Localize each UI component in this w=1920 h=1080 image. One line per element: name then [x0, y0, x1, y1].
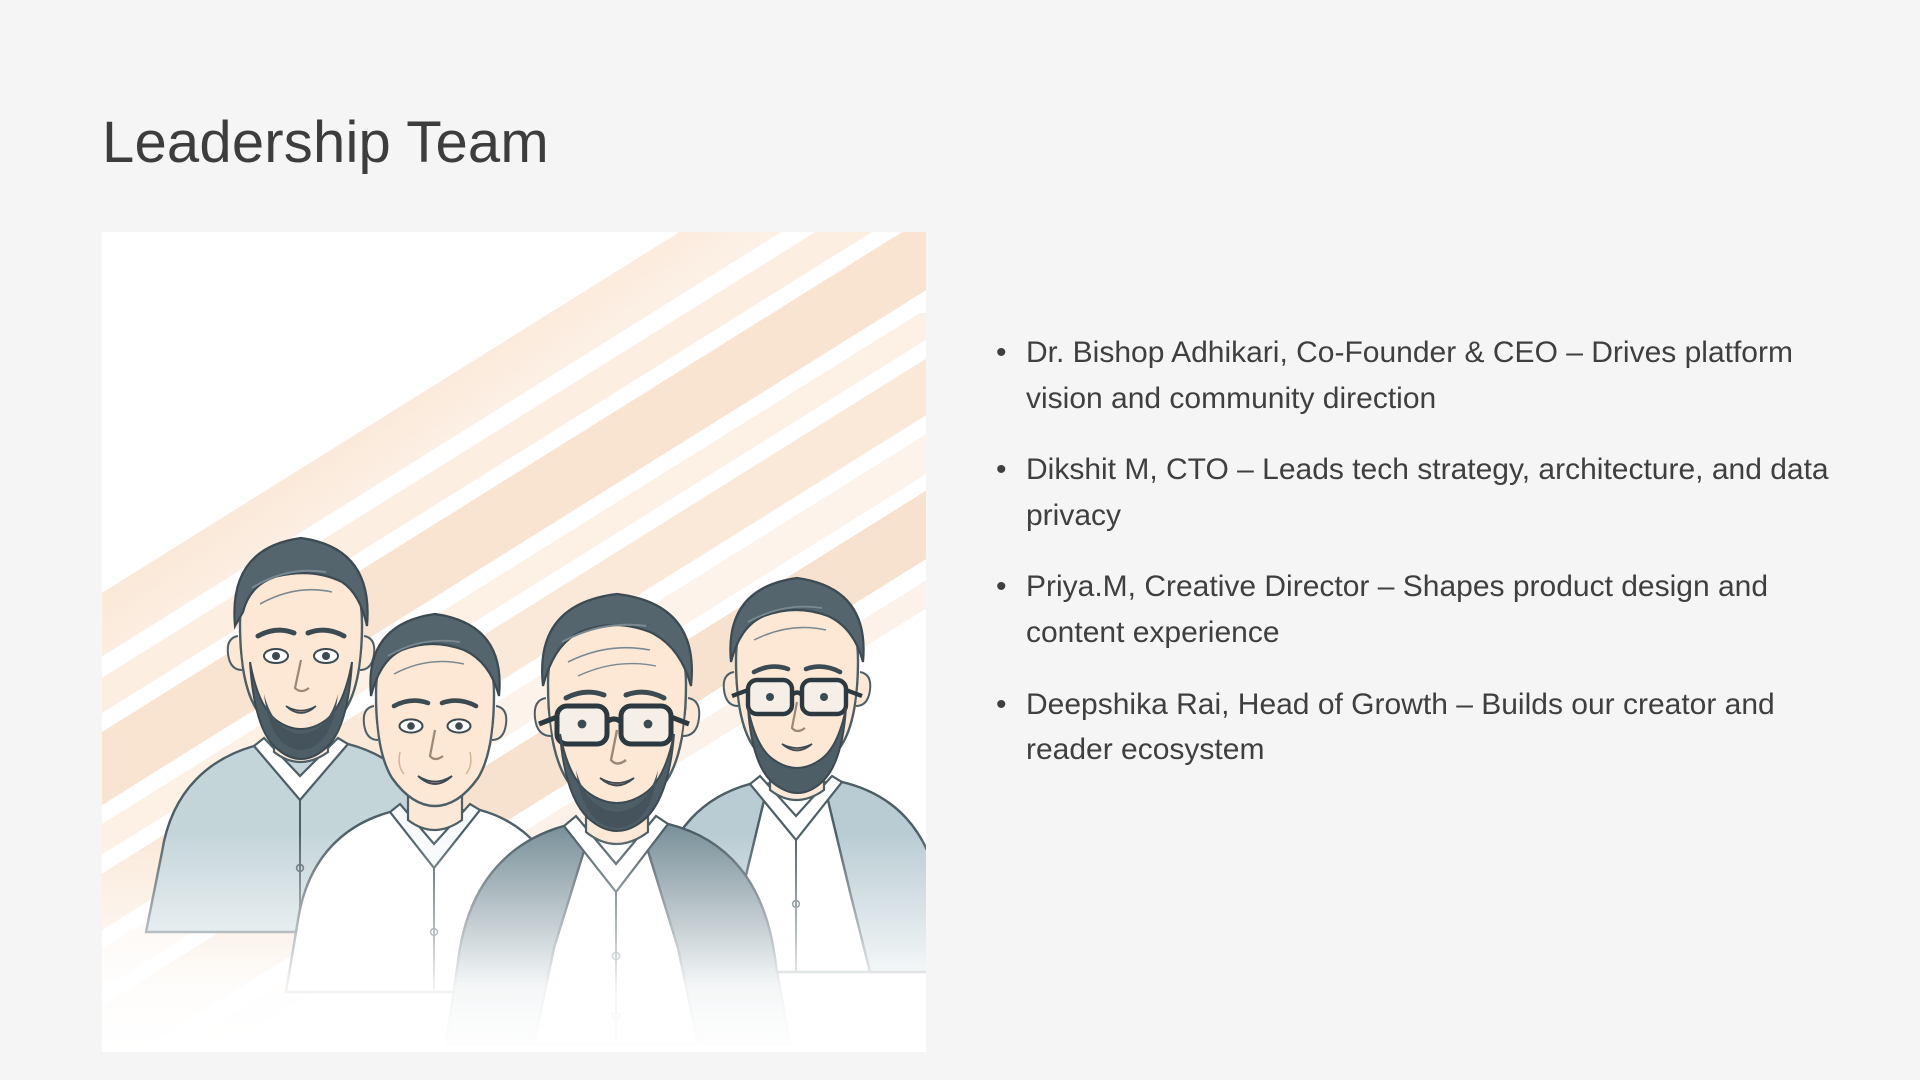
bullet-marker-icon: • [996, 682, 1007, 728]
list-item: • Deepshika Rai, Head of Growth – Builds… [988, 682, 1848, 773]
bullet-marker-icon: • [996, 447, 1007, 493]
list-item: • Priya.M, Creative Director – Shapes pr… [988, 564, 1848, 655]
leadership-bullet-list: • Dr. Bishop Adhikari, Co-Founder & CEO … [988, 330, 1848, 773]
list-item-text: Priya.M, Creative Director – Shapes prod… [1026, 564, 1848, 655]
slide-content: • Dr. Bishop Adhikari, Co-Founder & CEO … [0, 0, 1920, 1080]
list-item-text: Deepshika Rai, Head of Growth – Builds o… [1026, 682, 1848, 773]
leadership-team-image-panel [102, 232, 926, 1052]
bullet-marker-icon: • [996, 330, 1007, 376]
list-item-text: Dikshit M, CTO – Leads tech strategy, ar… [1026, 447, 1848, 538]
list-item-text: Dr. Bishop Adhikari, Co-Founder & CEO – … [1026, 330, 1848, 421]
bullet-marker-icon: • [996, 564, 1007, 610]
slide: Leadership Team [0, 0, 1920, 1080]
list-item: • Dikshit M, CTO – Leads tech strategy, … [988, 447, 1848, 538]
leadership-team-illustration-icon [102, 232, 926, 1052]
list-item: • Dr. Bishop Adhikari, Co-Founder & CEO … [988, 330, 1848, 421]
